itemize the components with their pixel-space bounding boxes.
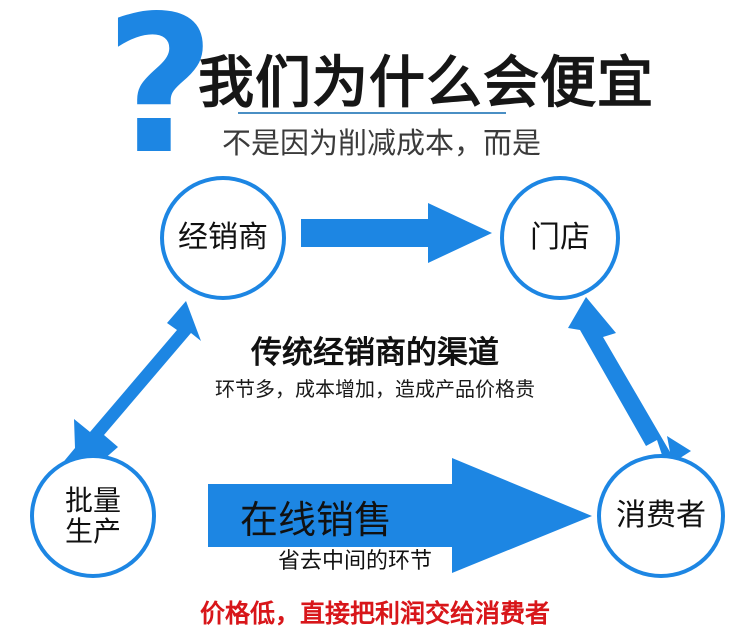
traditional-channel-heading: 传统经销商的渠道 (0, 327, 750, 372)
node-store-label: 门店 (530, 222, 590, 254)
node-factory-label: 批量 生产 (65, 485, 121, 548)
online-channel-description: 省去中间的环节 (278, 543, 432, 575)
node-dealer-label: 经销商 (178, 222, 268, 254)
node-store[interactable]: 门店 (500, 176, 620, 300)
infographic-canvas: ? 我们为什么会便宜 不是因为削减成本，而是 经销商 门店 批量 生产 消费者 … (0, 0, 750, 636)
node-dealer[interactable]: 经销商 (160, 176, 286, 300)
footer-note: 价格低，直接把利润交给消费者 (0, 594, 750, 630)
traditional-channel-description: 环节多，成本增加，造成产品价格贵 (0, 373, 750, 402)
node-factory[interactable]: 批量 生产 (30, 454, 156, 578)
online-channel-heading: 在线销售 (240, 489, 392, 544)
node-consumer[interactable]: 消费者 (597, 454, 725, 578)
arrow-dealer-to-store (301, 203, 492, 263)
node-consumer-label: 消费者 (616, 500, 706, 532)
